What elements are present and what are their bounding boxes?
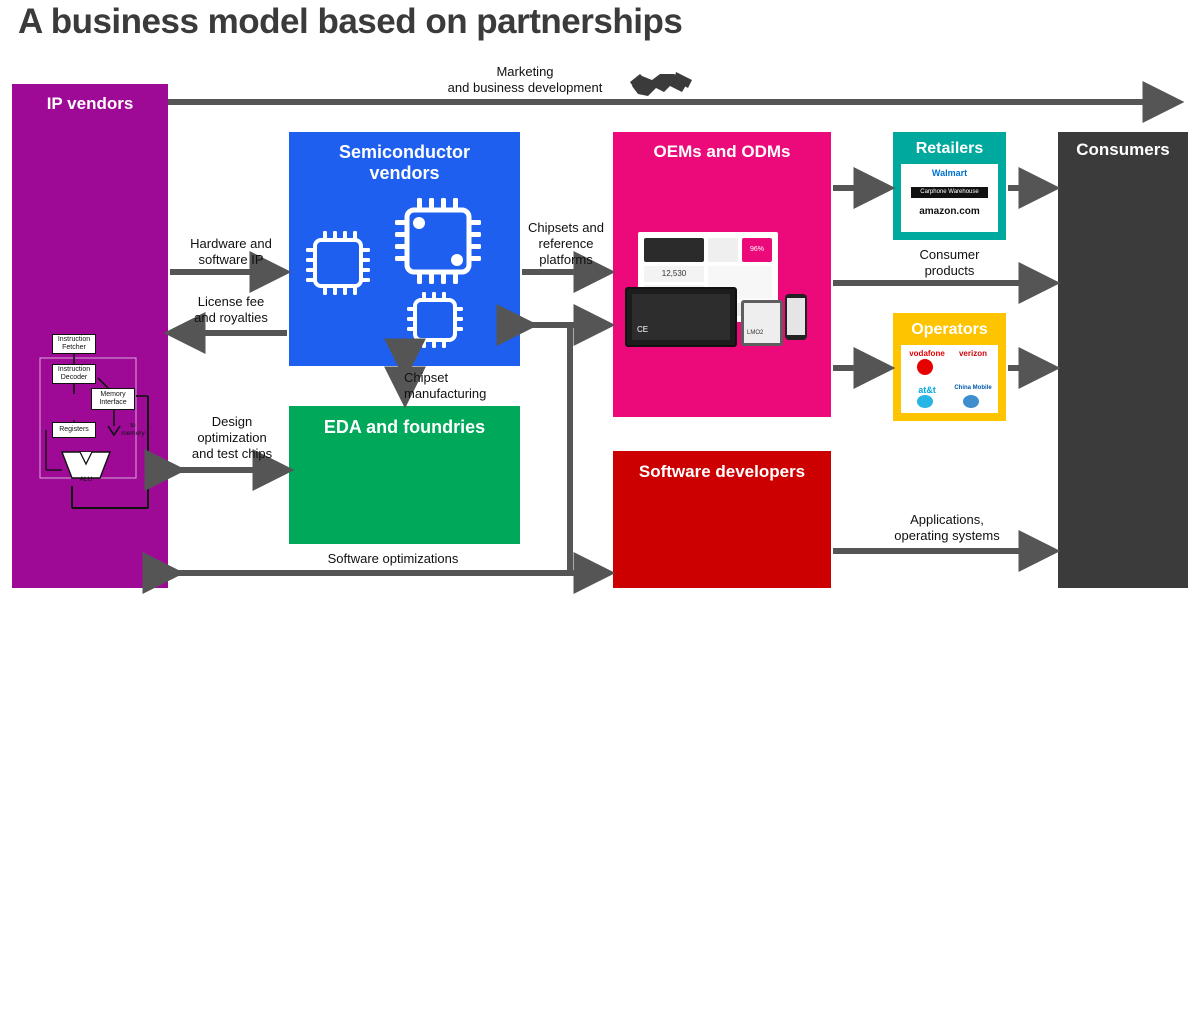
block-retailers-label: Retailers (893, 140, 1006, 158)
label-applications-operating-systems: Applications,operating systems (857, 512, 1037, 544)
retailer-logo-walmart: Walmart (901, 168, 998, 178)
label-design-optimization: Designoptimizationand test chips (176, 414, 288, 462)
block-consumers[interactable]: Consumers (1058, 132, 1188, 588)
block-oems-odms-label: OEMs and ODMs (613, 142, 831, 162)
cpu-to-memory-label: tomemory (118, 422, 148, 437)
label-consumer-products: Consumerproducts (893, 247, 1006, 279)
block-retailers[interactable]: Retailers Walmart Carphone Warehouse ama… (893, 132, 1006, 240)
label-software-optimizations: Software optimizations (290, 551, 496, 567)
operator-logo-plate: vodafone verizon at&t China Mobile (901, 345, 998, 413)
device-stat-3: 96% (742, 238, 772, 262)
device-phone-label: LMO2 (747, 330, 763, 336)
retailer-logo-plate: Walmart Carphone Warehouse amazon.com (901, 164, 998, 232)
block-operators[interactable]: Operators vodafone verizon at&t China Mo… (893, 313, 1006, 421)
cpu-block-diagram: InstructionFetcher InstructionDecoder Me… (36, 330, 158, 526)
cpu-registers: Registers (52, 422, 96, 438)
cpu-instruction-decoder: InstructionDecoder (52, 364, 96, 384)
block-consumers-label: Consumers (1058, 140, 1188, 160)
block-oems-odms[interactable]: OEMs and ODMs 96% 12,530 480 CE LMO2 (613, 132, 831, 417)
page-title: A business model based on partnerships (18, 2, 682, 42)
block-ip-vendors[interactable]: IP vendors (12, 84, 168, 588)
retailer-logo-amazon: amazon.com (901, 206, 998, 217)
operator-logo-vodafone: vodafone (905, 349, 949, 358)
cpu-memory-interface: MemoryInterface (91, 388, 135, 410)
label-chipset-manufacturing: Chipsetmanufacturing (404, 370, 524, 402)
operator-logo-att: at&t (905, 385, 949, 395)
label-license-fee-royalties: License feeand royalties (170, 294, 292, 326)
block-software-developers[interactable]: Software developers ▲ ✉ 31 👥 💬 ▤ ✂ ◉ 🔧 🔍… (613, 451, 831, 588)
block-operators-label: Operators (893, 321, 1006, 339)
device-stat-1: 12,530 (644, 266, 704, 282)
silicon-wafer-icon (649, 861, 737, 941)
cpu-alu-label: ALU (70, 476, 102, 484)
block-eda-foundries-label: EDA and foundries (289, 417, 520, 438)
block-eda-foundries[interactable]: EDA and foundries (289, 406, 520, 544)
label-marketing: Marketingand business development (400, 64, 650, 96)
cpu-instruction-fetcher: InstructionFetcher (52, 334, 96, 354)
device-tablet: LMO2 (741, 300, 783, 346)
operator-logo-verizon: verizon (951, 349, 995, 358)
label-hardware-software-ip: Hardware andsoftware IP (170, 236, 292, 268)
chip-icons (289, 132, 520, 366)
device-laptop: CE (625, 287, 737, 347)
device-tablet-label: CE (637, 325, 648, 334)
device-phone (785, 294, 807, 340)
operator-logo-china-mobile: China Mobile (951, 385, 995, 391)
block-software-developers-label: Software developers (613, 462, 831, 482)
label-chipsets-reference-platforms: Chipsets andreferenceplatforms (518, 220, 614, 268)
diagram-canvas: A business model based on partnerships I… (0, 0, 1200, 600)
block-ip-vendors-label: IP vendors (12, 94, 168, 114)
block-semiconductor-vendors[interactable]: Semiconductorvendors (289, 132, 520, 366)
retailer-logo-carphone: Carphone Warehouse (911, 187, 988, 198)
